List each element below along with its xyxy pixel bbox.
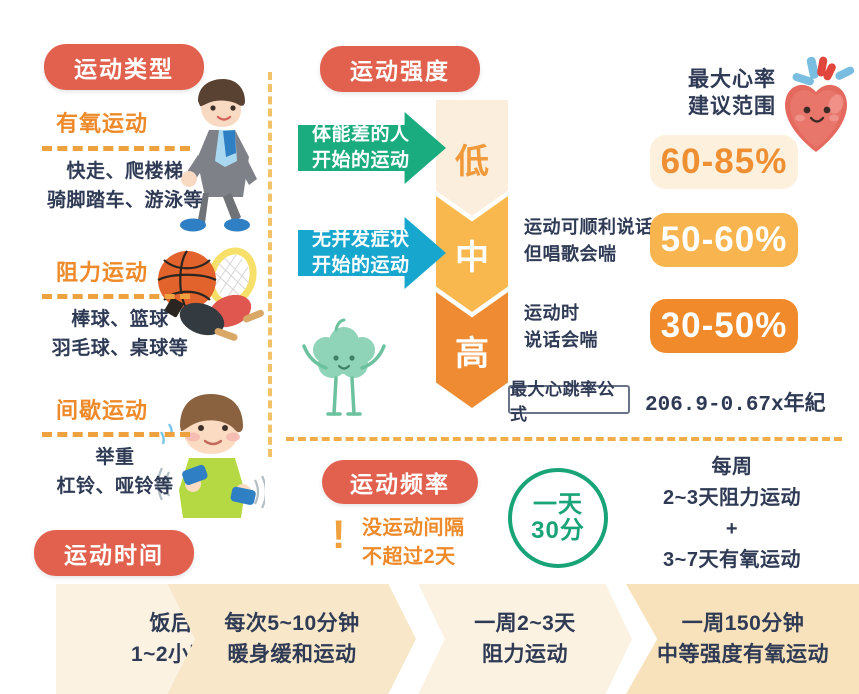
step4-line1: 一周150分钟 <box>682 612 805 635</box>
arrow-low-line2: 开始的运动 <box>312 150 410 171</box>
ring-line1: 一天 <box>533 492 583 518</box>
freq-warn-line1: 没运动间隔 <box>362 517 465 539</box>
heart-rate-badge-2: 50-60% <box>650 213 798 267</box>
arrow-mid-line1: 无并发症状 <box>312 229 410 250</box>
resistance-line-1: 棒球、篮球 <box>20 306 220 334</box>
divider-aerobic <box>42 146 190 151</box>
aerobic-line-1: 快走、爬楼梯 <box>20 158 230 186</box>
daily-duration-badge: 一天 30分 <box>508 468 608 568</box>
heart-title-line1: 最大心率 <box>688 68 776 91</box>
arrow-mid-intensity: 无并发症状 开始的运动 <box>298 217 446 289</box>
step3-line1: 一周2~3天 <box>474 612 576 635</box>
section-header-intensity: 运动强度 <box>320 46 480 92</box>
vertical-divider <box>268 72 272 457</box>
step4-line2: 中等强度有氧运动 <box>657 643 829 666</box>
subhead-resistance: 阻力运动 <box>56 255 148 287</box>
intensity-column: 低 中 高 <box>436 100 508 390</box>
timeline-step-3: 一周2~3天 阻力运动 <box>392 584 632 694</box>
arrow-mid-line2: 开始的运动 <box>312 255 410 276</box>
hr-desc2-line2: 但唱歌会喘 <box>524 244 617 264</box>
heart-title-line2: 建议范围 <box>688 95 776 118</box>
divider-interval <box>42 432 190 437</box>
freq-warn-line2: 不超过2天 <box>362 546 456 568</box>
timeline-step-4: 一周150分钟 中等强度有氧运动 <box>600 584 859 694</box>
arrow-low-line1: 体能差的人 <box>312 124 410 145</box>
section-header-frequency: 运动频率 <box>322 460 478 504</box>
frequency-warning: 没运动间隔 不超过2天 <box>362 514 465 572</box>
max-heart-rate-formula-label: 最大心跳率公式 <box>508 385 630 414</box>
timeline-bar: 饭后 1~2小时 每次5~10分钟 暖身缓和运动 一周2~3天 阻力运动 一周1… <box>0 584 859 694</box>
divider-resistance <box>42 294 190 299</box>
interval-line-1: 举重 <box>20 444 210 472</box>
weekly-recommendation: 每周 2~3天阻力运动 + 3~7天有氧运动 <box>612 452 852 576</box>
hr-desc3-line2: 说话会喘 <box>524 330 598 350</box>
max-heart-rate-formula-value: 206.9-0.67x年紀 <box>645 387 826 417</box>
weekly-line2: 2~3天阻力运动 <box>663 487 801 509</box>
heart-rate-badge-1: 60-85% <box>650 135 798 189</box>
hr-desc3-line1: 运动时 <box>524 303 580 323</box>
hr-desc2-line1: 运动可顺利说话 <box>524 217 654 237</box>
infographic-canvas: 运动类型 有氧运动 快走、爬楼梯 骑脚踏车、游泳等 <box>0 0 859 694</box>
ring-line2: 30分 <box>531 518 585 544</box>
step2-line1: 每次5~10分钟 <box>224 612 359 635</box>
heart-rate-badge-3: 30-50% <box>650 299 798 353</box>
weekly-line4: 3~7天有氧运动 <box>663 549 801 571</box>
aerobic-line-2: 骑脚踏车、游泳等 <box>10 187 240 215</box>
interval-line-2: 杠铃、哑铃等 <box>10 473 220 501</box>
broccoli-mascot-icon <box>296 316 392 418</box>
arrow-low-intensity: 体能差的人 开始的运动 <box>298 112 446 184</box>
intensity-level-low: 低 <box>436 100 508 216</box>
step2-line2: 暖身缓和运动 <box>228 643 357 666</box>
weekly-line3: + <box>726 518 738 540</box>
step3-line2: 阻力运动 <box>482 643 568 666</box>
subhead-interval: 间歇运动 <box>56 393 148 425</box>
exclamation-icon: ! <box>332 515 345 555</box>
horizontal-divider <box>286 437 842 441</box>
section-header-exercise-time: 运动时间 <box>34 530 194 576</box>
weekly-line1: 每周 <box>712 456 753 478</box>
subhead-aerobic: 有氧运动 <box>56 106 148 138</box>
resistance-line-2: 羽毛球、桌球等 <box>10 335 230 363</box>
heart-rate-title: 最大心率 建议范围 <box>672 66 792 121</box>
